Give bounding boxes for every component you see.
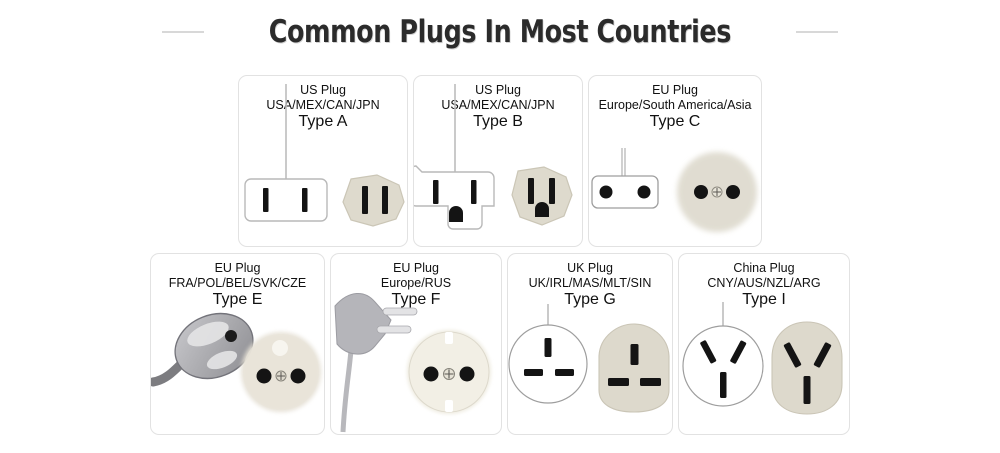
title-rule-left <box>162 31 204 33</box>
title-rule-right <box>796 31 838 33</box>
plug-card-type-i[interactable]: China Plug CNY/AUS/NZL/ARG Type I <box>678 253 850 435</box>
plug-card-type-e[interactable]: EU Plug FRA/POL/BEL/SVK/CZE Type E <box>150 253 325 435</box>
china-plug-type-i-icon <box>679 254 849 434</box>
plug-card-type-c[interactable]: EU Plug Europe/South America/Asia Type C <box>588 75 762 247</box>
us-plug-type-b-icon <box>414 76 582 246</box>
plug-card-type-a[interactable]: US Plug USA/MEX/CAN/JPN Type A <box>238 75 408 247</box>
uk-plug-type-g-icon <box>508 254 672 434</box>
plug-card-type-b[interactable]: US Plug USA/MEX/CAN/JPN Type B <box>413 75 583 247</box>
plug-card-type-g[interactable]: UK Plug UK/IRL/MAS/MLT/SIN Type G <box>507 253 673 435</box>
eu-plug-type-e-icon <box>151 254 324 434</box>
eu-plug-type-f-icon <box>331 254 501 434</box>
eu-plug-type-c-icon <box>589 76 761 246</box>
page-title-bar: Common Plugs In Most Countries <box>0 14 1000 50</box>
page-title: Common Plugs In Most Countries <box>269 14 731 50</box>
us-plug-type-a-icon <box>239 76 407 246</box>
plug-card-type-f[interactable]: EU Plug Europe/RUS Type F <box>330 253 502 435</box>
